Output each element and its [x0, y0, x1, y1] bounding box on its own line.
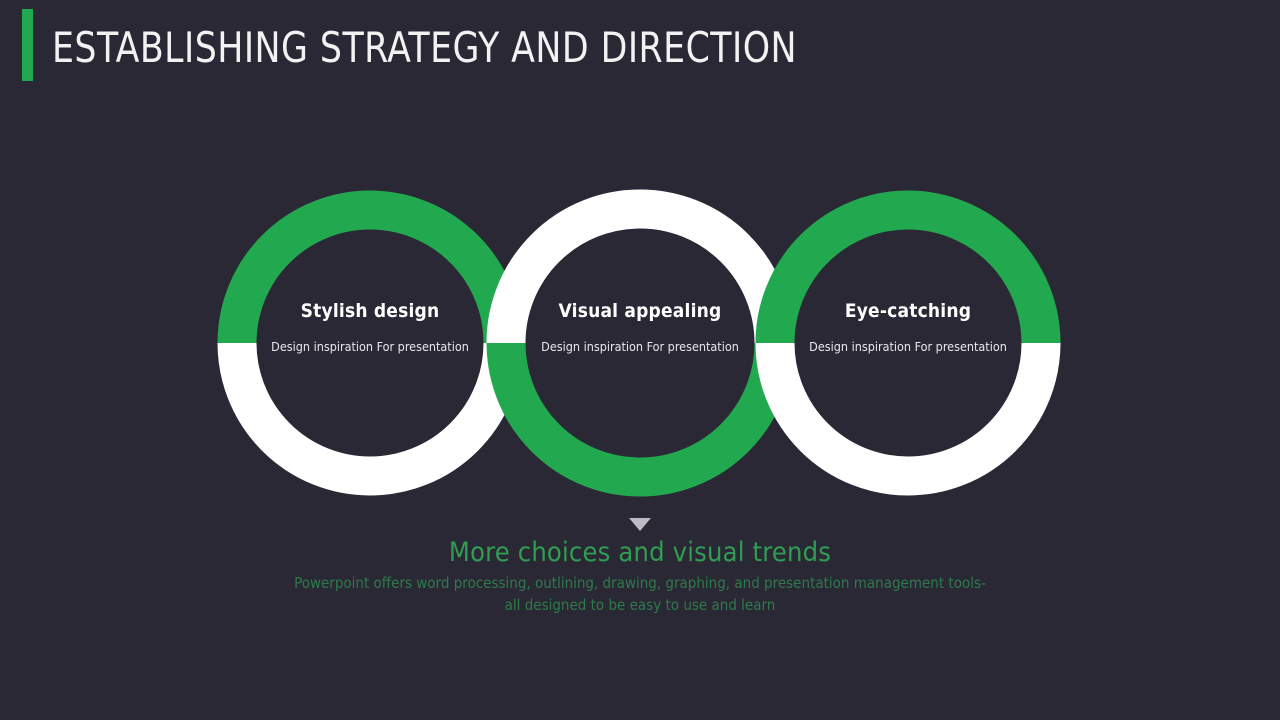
- ring-1-description: Design inspiration For presentation: [255, 337, 485, 356]
- footer-heading: More choices and visual trends: [0, 536, 1280, 570]
- ring-3-label: Eye-catching Design inspiration For pres…: [793, 300, 1023, 356]
- footer-section: More choices and visual trends Powerpoin…: [0, 512, 1280, 616]
- ring-1-label: Stylish design Design inspiration For pr…: [255, 300, 485, 356]
- ring-3-description: Design inspiration For presentation: [793, 337, 1023, 356]
- triangle-down-icon: [629, 518, 651, 531]
- title-accent-bar: [22, 9, 33, 81]
- footer-body-text: Powerpoint offers word processing, outli…: [290, 572, 990, 616]
- page-title: ESTABLISHING STRATEGY AND DIRECTION: [52, 22, 797, 74]
- ring-1-title: Stylish design: [255, 300, 485, 323]
- ring-2-title: Visual appealing: [525, 300, 755, 323]
- slide-title-bar: ESTABLISHING STRATEGY AND DIRECTION: [0, 0, 1280, 110]
- ring-2-label: Visual appealing Design inspiration For …: [525, 300, 755, 356]
- ring-3-title: Eye-catching: [793, 300, 1023, 323]
- ring-2-description: Design inspiration For presentation: [525, 337, 755, 356]
